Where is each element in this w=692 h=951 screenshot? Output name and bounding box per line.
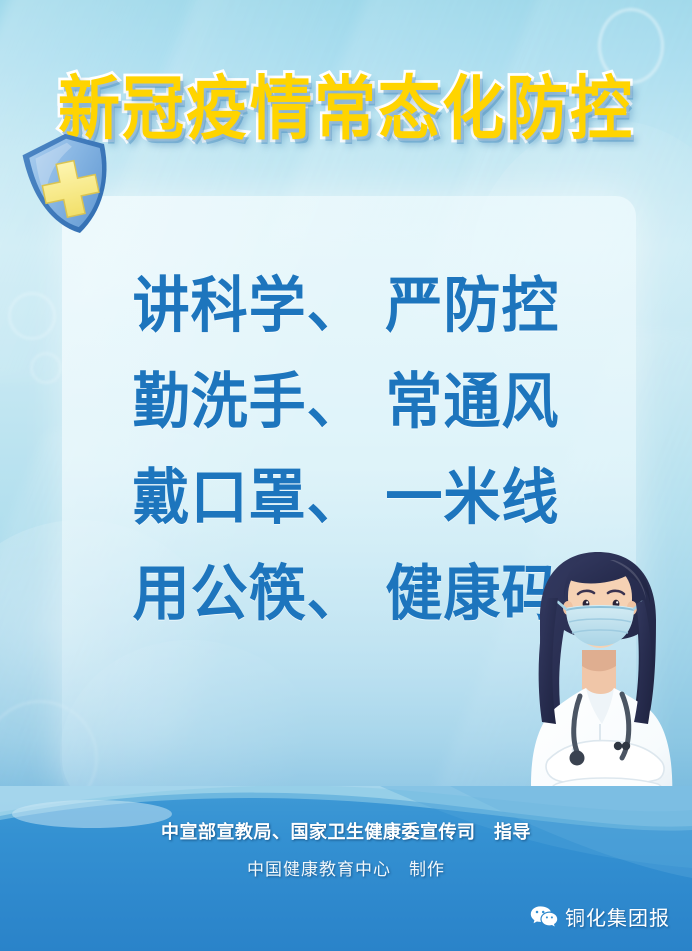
credit-line-1: 中宣部宣教局、国家卫生健康委宣传司 指导 <box>0 818 692 844</box>
slogan-line-3: 戴口罩、 一米线 <box>0 447 692 549</box>
wechat-icon <box>530 905 558 929</box>
doctor-illustration <box>514 546 692 806</box>
footer-credits: 中宣部宣教局、国家卫生健康委宣传司 指导 中国健康教育中心 制作 <box>0 818 692 880</box>
slogan-line-2: 勤洗手、 常通风 <box>0 351 692 453</box>
poster-title-text: 新冠疫情常态化防控 <box>58 74 634 143</box>
face-mask-icon <box>558 602 642 646</box>
poster-canvas: 新冠疫情常态化防控 <box>0 0 692 951</box>
wechat-account-name: 铜化集团报 <box>565 902 670 931</box>
credit-line-2: 中国健康教育中心 制作 <box>0 855 692 880</box>
slogan-line-1: 讲科学、 严防控 <box>0 255 692 357</box>
footer-banner: 中宣部宣教局、国家卫生健康委宣传司 指导 中国健康教育中心 制作 铜化集团报 <box>0 786 692 951</box>
wechat-watermark: 铜化集团报 <box>530 902 670 931</box>
